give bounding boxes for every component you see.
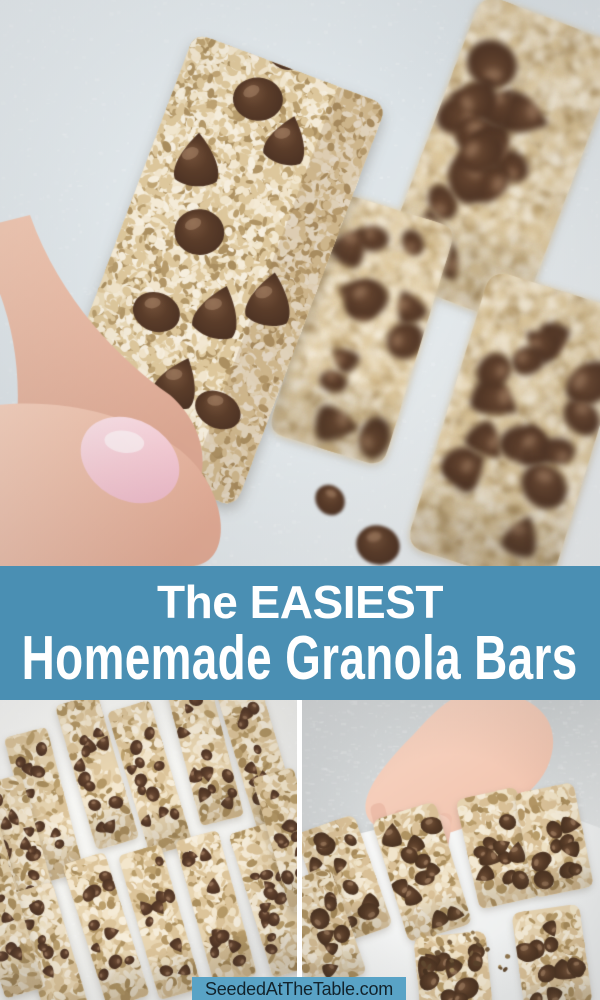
- bottom-left-photo: [0, 700, 297, 1000]
- bottom-left-photo-canvas: [0, 700, 297, 1000]
- hero-photo: [0, 0, 600, 566]
- title-line-2: Homemade Granola Bars: [22, 628, 578, 690]
- bottom-right-photo: [302, 700, 600, 1000]
- recipe-pin: The EASIEST Homemade Granola Bars Seeded…: [0, 0, 600, 1000]
- footer-url-banner: SeededAtTheTable.com: [192, 977, 406, 1000]
- site-url-text: SeededAtTheTable.com: [205, 980, 393, 998]
- title-banner: The EASIEST Homemade Granola Bars: [0, 566, 600, 700]
- bottom-right-photo-canvas: [302, 700, 600, 1000]
- title-line-1: The EASIEST: [157, 577, 443, 627]
- hero-photo-canvas: [0, 0, 600, 566]
